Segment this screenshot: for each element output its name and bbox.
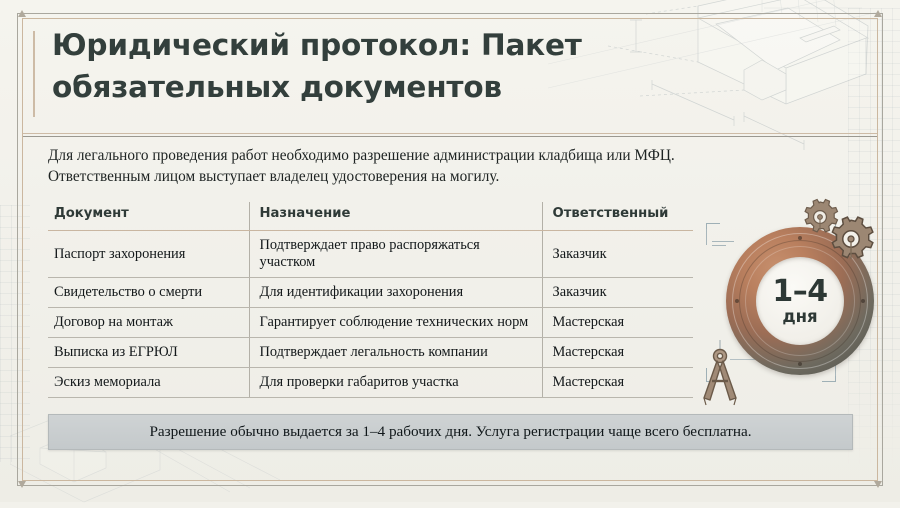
- table-row: Свидетельство о смерти Для идентификации…: [48, 278, 693, 308]
- dial-face: 1–4 дня: [756, 257, 844, 345]
- cell-purpose: Для проверки габаритов участка: [249, 368, 542, 398]
- frame-arrow-top-right-icon: [874, 10, 882, 17]
- duration-badge: 1–4 дня: [690, 205, 880, 400]
- tick-mark-icon: [712, 241, 734, 242]
- tick-mark-icon: [706, 229, 707, 245]
- cell-document: Свидетельство о смерти: [48, 278, 249, 308]
- header-divider: [23, 136, 877, 137]
- badge-unit: дня: [782, 308, 817, 326]
- column-header-responsible: Ответственный: [542, 202, 693, 231]
- gear-icon: [796, 197, 874, 267]
- cell-responsible: Заказчик: [542, 278, 693, 308]
- table-row: Эскиз мемориала Для проверки габаритов у…: [48, 368, 693, 398]
- intro-paragraph: Для легального проведения работ необходи…: [48, 145, 698, 187]
- note-text: Разрешение обычно выдается за 1–4 рабочи…: [149, 423, 751, 441]
- note-banner: Разрешение обычно выдается за 1–4 рабочи…: [48, 414, 853, 450]
- frame-arrow-bottom-left-icon: [18, 481, 26, 488]
- badge-value: 1–4: [772, 277, 827, 306]
- table-row: Паспорт захоронения Подтверждает право р…: [48, 231, 693, 278]
- cell-document: Эскиз мемориала: [48, 368, 249, 398]
- table-row: Договор на монтаж Гарантирует соблюдение…: [48, 308, 693, 338]
- table-header-row: Документ Назначение Ответственный: [48, 202, 693, 231]
- page-title: Юридический протокол: Пакет обязательных…: [52, 24, 612, 108]
- column-header-document: Документ: [48, 202, 249, 231]
- cell-purpose: Подтверждает право распоряжаться участко…: [249, 231, 542, 278]
- documents-table: Документ Назначение Ответственный Паспор…: [48, 202, 693, 398]
- header: Юридический протокол: Пакет обязательных…: [33, 24, 860, 128]
- cell-document: Выписка из ЕГРЮЛ: [48, 338, 249, 368]
- column-header-purpose: Назначение: [249, 202, 542, 231]
- dial-rivet-icon: [798, 362, 802, 366]
- compass-icon: [690, 336, 750, 408]
- cell-document: Паспорт захоронения: [48, 231, 249, 278]
- intro-line-2: Ответственным лицом выступает владелец у…: [48, 166, 698, 187]
- cell-responsible: Мастерская: [542, 338, 693, 368]
- frame-arrow-bottom-right-icon: [874, 481, 882, 488]
- cell-document: Договор на монтаж: [48, 308, 249, 338]
- header-divider-accent: [23, 133, 877, 134]
- cell-purpose: Для идентификации захоронения: [249, 278, 542, 308]
- title-accent-rule: [33, 31, 35, 117]
- intro-line-1: Для легального проведения работ необходи…: [48, 145, 698, 166]
- table-row: Выписка из ЕГРЮЛ Подтверждает легальност…: [48, 338, 693, 368]
- tick-mark-icon: [712, 245, 726, 246]
- cell-responsible: Заказчик: [542, 231, 693, 278]
- crop-mark-top-left-icon: [706, 223, 720, 237]
- dial-rivet-icon: [735, 299, 739, 303]
- dial-rivet-icon: [861, 299, 865, 303]
- cell-purpose: Подтверждает легальность компании: [249, 338, 542, 368]
- cell-purpose: Гарантирует соблюдение технических норм: [249, 308, 542, 338]
- cell-responsible: Мастерская: [542, 368, 693, 398]
- cell-responsible: Мастерская: [542, 308, 693, 338]
- frame-arrow-top-left-icon: [18, 10, 26, 17]
